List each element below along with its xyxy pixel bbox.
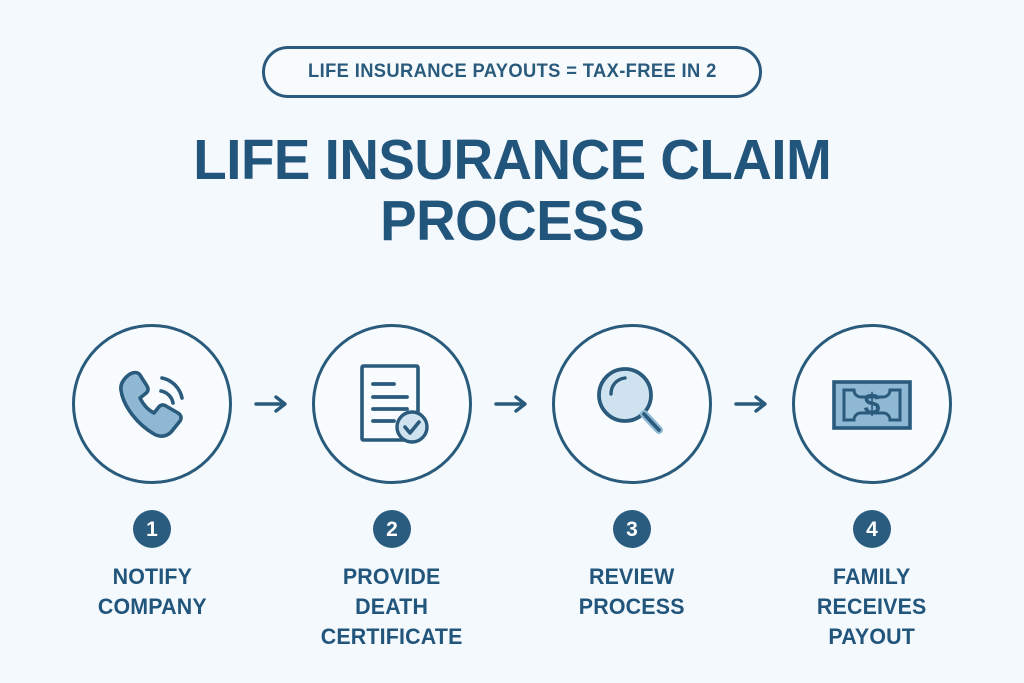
step-3-label-line-2: PROCESS — [579, 592, 685, 622]
step-2-number: 2 — [373, 510, 411, 548]
step-4-label-line-3: PAYOUT — [817, 622, 927, 652]
step-4-icon-circle: $ — [792, 324, 952, 484]
step-2-label-line-2: DEATH — [321, 592, 463, 622]
step-3-icon-circle — [552, 324, 712, 484]
page-title-line-1: LIFE INSURANCE CLAIM — [193, 130, 831, 191]
arrow-right-icon-1 — [250, 394, 294, 414]
arrow-right-icon-2 — [490, 394, 534, 414]
process-steps: 1 NOTIFY COMPANY — [54, 324, 970, 651]
step-2-label-line-1: PROVIDE — [321, 562, 463, 592]
step-1-label-line-1: NOTIFY — [97, 562, 206, 592]
process-step-4: $ 4 FAMILY RECEIVES PAYOUT — [774, 324, 970, 651]
svg-text:$: $ — [864, 388, 881, 421]
step-3-label: REVIEW PROCESS — [579, 562, 685, 621]
step-1-number: 1 — [133, 510, 171, 548]
phone-call-icon — [100, 352, 204, 456]
page-title-line-2: PROCESS — [193, 191, 831, 252]
step-2-label-line-3: CERTIFICATE — [321, 622, 463, 652]
page-title: LIFE INSURANCE CLAIM PROCESS — [193, 130, 831, 252]
tagline-badge-text: LIFE INSURANCE PAYOUTS = TAX-FREE IN 2 — [308, 60, 717, 83]
infographic-root: LIFE INSURANCE PAYOUTS = TAX-FREE IN 2 L… — [0, 0, 1024, 683]
arrow-right-icon-3 — [730, 394, 774, 414]
step-4-label-line-2: RECEIVES — [817, 592, 927, 622]
step-1-label: NOTIFY COMPANY — [97, 562, 206, 621]
magnifying-glass-icon — [580, 352, 684, 456]
document-check-icon — [340, 352, 444, 456]
step-2-icon-circle — [312, 324, 472, 484]
process-step-1: 1 NOTIFY COMPANY — [54, 324, 250, 621]
step-4-number: 4 — [853, 510, 891, 548]
step-4-label: FAMILY RECEIVES PAYOUT — [817, 562, 927, 651]
tagline-badge: LIFE INSURANCE PAYOUTS = TAX-FREE IN 2 — [262, 46, 763, 98]
process-step-2: 2 PROVIDE DEATH CERTIFICATE — [294, 324, 490, 651]
step-1-icon-circle — [72, 324, 232, 484]
process-step-3: 3 REVIEW PROCESS — [534, 324, 730, 621]
step-3-label-line-1: REVIEW — [579, 562, 685, 592]
step-3-number: 3 — [613, 510, 651, 548]
step-1-label-line-2: COMPANY — [97, 592, 206, 622]
banknote-dollar-icon: $ — [820, 352, 924, 456]
step-2-label: PROVIDE DEATH CERTIFICATE — [321, 562, 463, 651]
step-4-label-line-1: FAMILY — [817, 562, 927, 592]
